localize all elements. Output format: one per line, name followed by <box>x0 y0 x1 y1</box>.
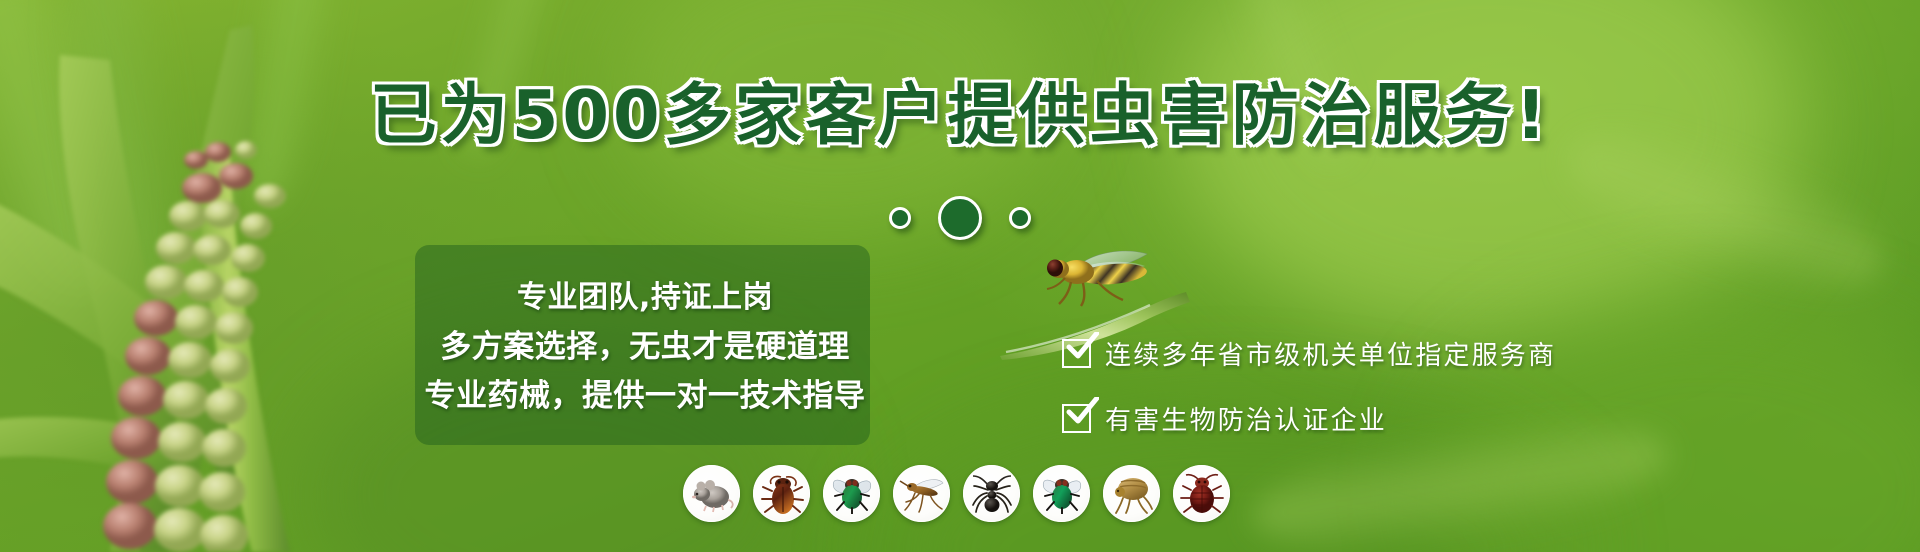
list-item-label: 有害生物防治认证企业 <box>1105 400 1387 437</box>
ant-icon[interactable] <box>963 465 1020 522</box>
dot-small-right <box>1009 207 1031 229</box>
bedbug-icon[interactable] <box>1173 465 1230 522</box>
blowfly-icon[interactable] <box>1033 465 1090 522</box>
promo-banner: 已为500多家客户提供虫害防治服务! 专业团队,持证上岗 多方案选择，无虫才是硬… <box>0 0 1920 552</box>
flea-icon[interactable] <box>1103 465 1160 522</box>
pest-icon-row <box>683 465 1230 522</box>
dot-small-left <box>889 207 911 229</box>
decorative-dots <box>0 196 1920 240</box>
feature-checklist: 连续多年省市级机关单位指定服务商 有害生物防治认证企业 <box>1062 335 1556 437</box>
list-item: 有害生物防治认证企业 <box>1062 400 1556 437</box>
checkbox-checked-icon <box>1062 339 1091 368</box>
mosquito-icon[interactable] <box>893 465 950 522</box>
list-item: 连续多年省市级机关单位指定服务商 <box>1062 335 1556 372</box>
cockroach-icon[interactable] <box>753 465 810 522</box>
page-title: 已为500多家客户提供虫害防治服务! <box>0 82 1920 149</box>
hoverfly-illustration <box>1035 248 1160 308</box>
housefly-icon[interactable] <box>823 465 880 522</box>
dot-large-center <box>938 196 982 240</box>
list-item-label: 连续多年省市级机关单位指定服务商 <box>1105 335 1556 372</box>
promo-line-2: 多方案选择，无虫才是硬道理 <box>440 331 850 364</box>
promo-text-lines: 专业团队,持证上岗 多方案选择，无虫才是硬道理 专业药械，提供一对一技术指导 <box>415 250 875 445</box>
headline-text: 已为500多家客户提供虫害防治服务! <box>370 76 1550 154</box>
checkbox-checked-icon <box>1062 404 1091 433</box>
rodent-icon[interactable] <box>683 465 740 522</box>
promo-line-1: 专业团队,持证上岗 <box>517 282 773 314</box>
promo-line-3: 专业药械，提供一对一技术指导 <box>425 380 866 413</box>
